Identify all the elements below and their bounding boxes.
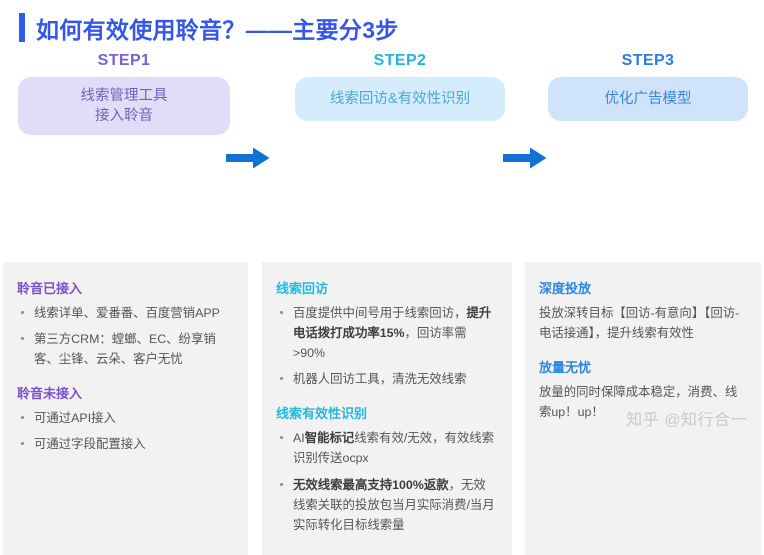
list-item: AI智能标记线索有效/无效，有效线索识别传送ocpx (276, 428, 498, 468)
list-item: 线索详单、爱番番、百度营销APP (17, 303, 234, 323)
section-heading: 聆音已接入 (17, 278, 234, 297)
section-heading: 线索回访 (276, 278, 498, 297)
panel-2-section-1: 线索回访 百度提供中间号用于线索回访，提升电话拨打成功率15%，回访率需>90%… (276, 278, 498, 389)
step-header-1: STEP1 线索管理工具 接入聆音 (18, 52, 230, 135)
panel-1-section-2: 聆音未接入 可通过API接入 可通过字段配置接入 (17, 383, 234, 454)
list-item: 第三方CRM：螳螂、EC、纷享销客、尘锋、云朵、客户无忧 (17, 329, 234, 369)
panel-2-section-2: 线索有效性识别 AI智能标记线索有效/无效，有效线索识别传送ocpx 无效线索最… (276, 403, 498, 534)
section-heading: 线索有效性识别 (276, 403, 498, 422)
page-title: 如何有效使用聆音？——主要分3步 (36, 11, 399, 45)
steps-header-row: STEP1 线索管理工具 接入聆音 STEP2 线索回访&有效性识别 STEP3… (0, 46, 764, 130)
section-paragraph: 投放深转目标【回访-有意向】【回访-电话接通】，提升线索有效性 (539, 303, 747, 343)
step-chip-3[interactable]: 优化广告模型 (548, 77, 748, 121)
list-item: 可通过API接入 (17, 408, 234, 428)
list-item: 百度提供中间号用于线索回访，提升电话拨打成功率15%，回访率需>90% (276, 303, 498, 363)
page-header: 如何有效使用聆音？——主要分3步 (0, 0, 764, 46)
step-chip-2[interactable]: 线索回访&有效性识别 (295, 77, 505, 121)
step-label-3: STEP3 (548, 52, 748, 70)
step-chip-1[interactable]: 线索管理工具 接入聆音 (18, 77, 230, 135)
step-label-1: STEP1 (18, 52, 230, 70)
list-item: 可通过字段配置接入 (17, 434, 234, 454)
panel-3-section-1: 深度投放 投放深转目标【回访-有意向】【回访-电话接通】，提升线索有效性 (539, 278, 747, 343)
arrow-right-icon (503, 147, 547, 169)
title-accent-bar (19, 13, 25, 42)
step-chip-1-line1: 线索管理工具 (81, 86, 168, 106)
step-header-2: STEP2 线索回访&有效性识别 (295, 52, 505, 121)
bullet-list: 线索详单、爱番番、百度营销APP 第三方CRM：螳螂、EC、纷享销客、尘锋、云朵… (17, 303, 234, 369)
panel-1-section-1: 聆音已接入 线索详单、爱番番、百度营销APP 第三方CRM：螳螂、EC、纷享销客… (17, 278, 234, 369)
step-panel-1: 聆音已接入 线索详单、爱番番、百度营销APP 第三方CRM：螳螂、EC、纷享销客… (3, 262, 248, 555)
bullet-list: AI智能标记线索有效/无效，有效线索识别传送ocpx 无效线索最高支持100%返… (276, 428, 498, 534)
list-item: 机器人回访工具，清洗无效线索 (276, 369, 498, 389)
arrow-right-icon (226, 147, 270, 169)
bullet-list: 百度提供中间号用于线索回访，提升电话拨打成功率15%，回访率需>90% 机器人回… (276, 303, 498, 389)
step-panel-2: 线索回访 百度提供中间号用于线索回访，提升电话拨打成功率15%，回访率需>90%… (262, 262, 512, 555)
section-heading: 聆音未接入 (17, 383, 234, 402)
list-item: 无效线索最高支持100%返款，无效线索关联的投放包当月实际消费/当月实际转化目标… (276, 475, 498, 535)
watermark: 知乎 @知行合一 (626, 406, 747, 430)
step-header-3: STEP3 优化广告模型 (548, 52, 748, 121)
section-heading: 深度投放 (539, 278, 747, 297)
step-label-2: STEP2 (295, 52, 505, 70)
section-heading: 放量无忧 (539, 357, 747, 376)
step-chip-1-line2: 接入聆音 (81, 106, 168, 126)
bullet-list: 可通过API接入 可通过字段配置接入 (17, 408, 234, 454)
